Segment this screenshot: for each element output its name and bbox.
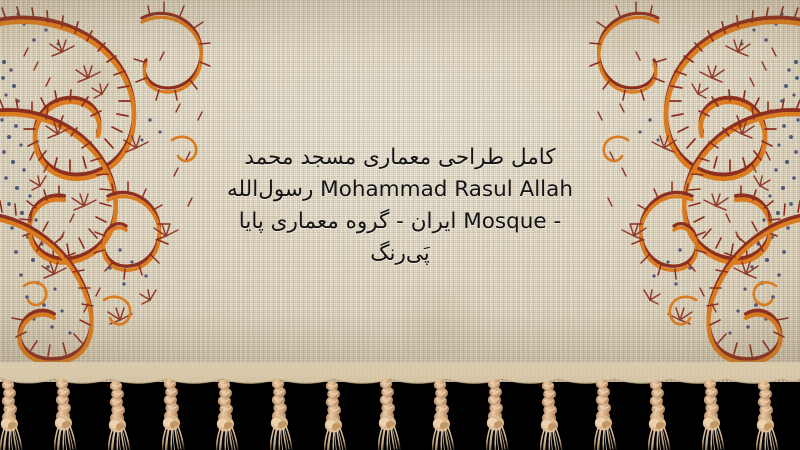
title-card-image: کامل طراحی معماری مسجد محمد Mohammad Ras… <box>0 0 800 450</box>
linen-fabric-panel: کامل طراحی معماری مسجد محمد Mohammad Ras… <box>0 0 800 378</box>
caption-line-1: کامل طراحی معماری مسجد محمد <box>165 142 635 174</box>
caption-line-4: پَی‌رنگ <box>165 238 635 270</box>
caption-text-block: کامل طراحی معماری مسجد محمد Mohammad Ras… <box>165 142 635 270</box>
knotted-tassel-fringe <box>0 362 800 450</box>
caption-line-3: - Mosque ایران - گروه معماری پایا <box>165 206 635 238</box>
caption-line-2: Mohammad Rasul Allah رسول‌الله <box>165 174 635 206</box>
